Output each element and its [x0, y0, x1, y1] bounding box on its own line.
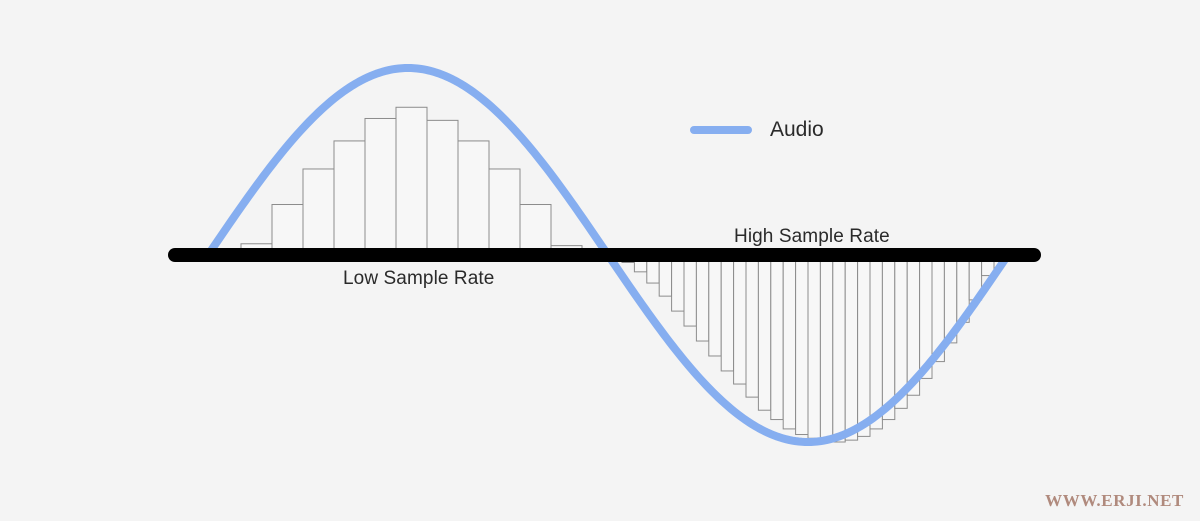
sample-bar — [334, 141, 365, 255]
sample-bar — [396, 107, 427, 255]
legend: Audio — [690, 118, 824, 142]
sample-bar — [365, 118, 396, 255]
site-watermark: WWW.ERJI.NET — [1045, 491, 1184, 511]
sample-bar — [672, 255, 684, 311]
sample-bar — [272, 205, 303, 255]
sample-bar — [882, 255, 894, 420]
sample-bar — [427, 120, 458, 255]
low-sample-rate-bars — [241, 107, 582, 255]
sample-bar — [303, 169, 334, 255]
legend-label-audio: Audio — [770, 118, 824, 142]
sample-bar — [783, 255, 795, 429]
sample-bar — [845, 255, 857, 440]
sample-bar — [684, 255, 696, 326]
sample-bar — [870, 255, 882, 429]
sample-bar — [734, 255, 746, 384]
sample-bar — [696, 255, 708, 341]
sample-bar — [721, 255, 733, 371]
sample-rate-diagram — [0, 0, 1200, 521]
sample-bar — [771, 255, 783, 420]
sample-bar — [833, 255, 845, 442]
zero-axis-baseline — [168, 248, 1041, 262]
sample-bar — [820, 255, 832, 442]
chart-canvas: Audio Low Sample Rate High Sample Rate W… — [0, 0, 1200, 521]
sample-bar — [808, 255, 820, 438]
sample-bar — [709, 255, 721, 356]
sample-bar — [758, 255, 770, 410]
sample-bar — [458, 141, 489, 255]
sample-bar — [858, 255, 870, 436]
audio-line-swatch-icon — [690, 126, 752, 134]
sample-bar — [796, 255, 808, 435]
sample-bar — [520, 205, 551, 255]
high-sample-rate-label: High Sample Rate — [734, 226, 890, 248]
low-sample-rate-label: Low Sample Rate — [343, 268, 494, 290]
sample-bar — [489, 169, 520, 255]
sample-bar — [746, 255, 758, 397]
